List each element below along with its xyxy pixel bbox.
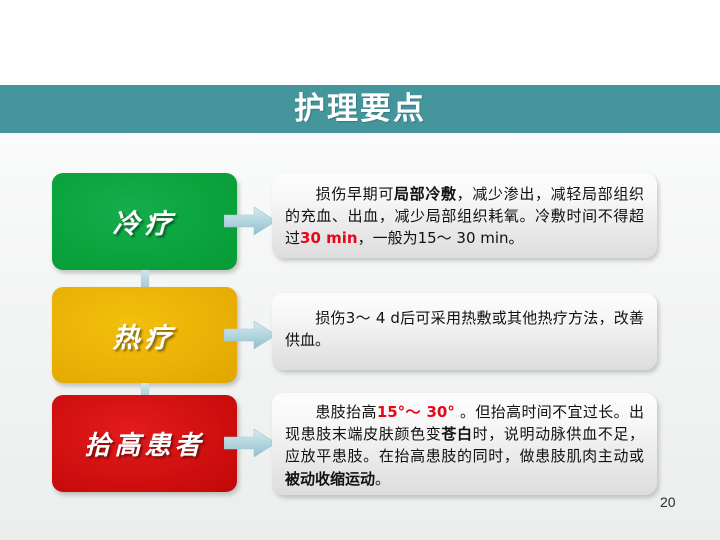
text-box-heat-therapy-body: 损伤3～ 4 d后可采用热敷或其他热疗方法，改善供血。 xyxy=(285,307,644,351)
label-box-elevate-limb-text: 拾高患者 xyxy=(84,425,204,462)
emphasis-red: 15°～ 30° xyxy=(377,403,455,421)
body-text: 损伤3～ 4 d后可采用热敷或其他热疗方法，改善供血。 xyxy=(285,309,644,349)
page-title: 护理要点 xyxy=(294,94,426,125)
label-box-cold-therapy[interactable]: 冷疗 xyxy=(52,173,237,270)
title-banner: 护理要点 xyxy=(0,85,720,133)
label-box-heat-therapy-text: 热疗 xyxy=(113,316,177,355)
emphasis-bold: 苍白 xyxy=(441,425,472,443)
text-box-cold-therapy-body: 损伤早期可局部冷敷，减少渗出，减轻局部组织的充血、出血，减少局部组织耗氧。冷敷时… xyxy=(285,183,644,250)
text-box-elevate-limb-body: 患肢抬高15°～ 30° 。但抬高时间不宜过长。出现患肢末端皮肤颜色变苍白时，说… xyxy=(285,401,644,490)
page-number: 20 xyxy=(660,494,676,510)
text-box-cold-therapy: 损伤早期可局部冷敷，减少渗出，减轻局部组织的充血、出血，减少局部组织耗氧。冷敷时… xyxy=(272,173,657,258)
label-box-cold-therapy-text: 冷疗 xyxy=(113,202,177,241)
right-arrow-icon xyxy=(224,428,276,458)
emphasis-bold: 局部冷敷 xyxy=(394,185,457,203)
text-box-heat-therapy: 损伤3～ 4 d后可采用热敷或其他热疗方法，改善供血。 xyxy=(272,293,657,370)
right-arrow-icon xyxy=(224,320,276,350)
right-arrow-icon xyxy=(224,206,276,236)
label-box-heat-therapy[interactable]: 热疗 xyxy=(52,287,237,383)
text-box-elevate-limb: 患肢抬高15°～ 30° 。但抬高时间不宜过长。出现患肢末端皮肤颜色变苍白时，说… xyxy=(272,393,657,495)
label-box-elevate-limb[interactable]: 拾高患者 xyxy=(52,395,237,492)
body-text: 患肢抬高 xyxy=(315,403,377,421)
connector-cold-to-heat xyxy=(141,270,149,287)
emphasis-red: 30 min xyxy=(300,229,358,247)
slide-canvas: 护理要点 冷疗 损伤早期可局部冷敷，减少渗出，减轻局部组织的充血、出血，减少局部… xyxy=(0,0,720,540)
body-text: ，一般为15～ 30 min。 xyxy=(358,229,524,247)
emphasis-bold: 被动收缩运动 xyxy=(285,470,375,488)
body-text: 损伤早期可 xyxy=(315,185,394,203)
body-text: 。 xyxy=(375,470,390,488)
